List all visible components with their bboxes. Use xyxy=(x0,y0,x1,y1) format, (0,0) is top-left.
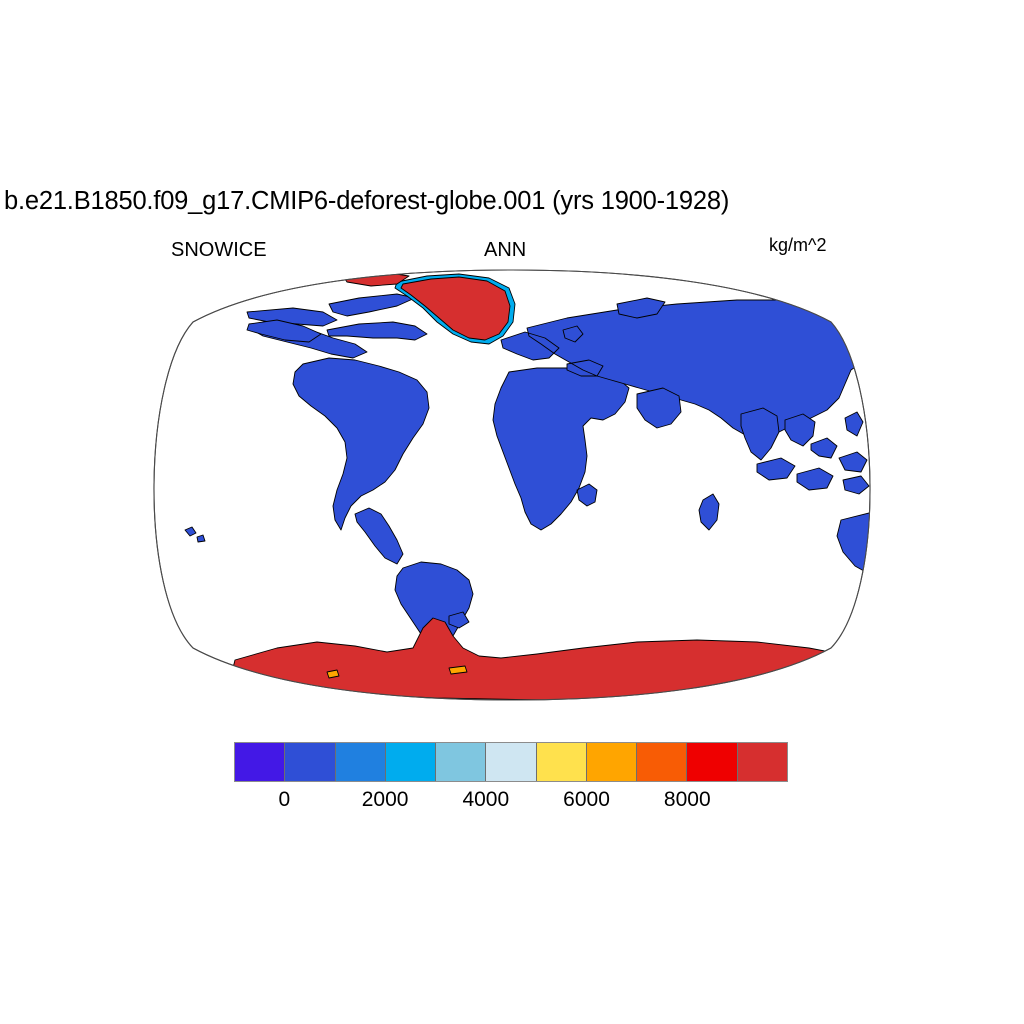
season-label: ANN xyxy=(484,239,526,262)
region-japan xyxy=(859,364,879,388)
colorbar-tick-0: 0 xyxy=(279,788,291,812)
map-plot-area xyxy=(97,268,927,702)
region-new-guinea xyxy=(887,462,927,488)
colorbar-cell-5 xyxy=(486,743,536,781)
colorbar-cell-4 xyxy=(436,743,486,781)
colorbar-cell-3 xyxy=(386,743,436,781)
world-map xyxy=(97,268,927,702)
variable-label: SNOWICE xyxy=(171,239,267,262)
colorbar-cell-0 xyxy=(235,743,285,781)
colorbar-cell-10 xyxy=(738,743,787,781)
page-title: b.e21.B1850.f09_g17.CMIP6-deforest-globe… xyxy=(4,187,729,216)
colorbar-cell-6 xyxy=(537,743,587,781)
colorbar-tick-labels: 02000400060008000 xyxy=(234,788,788,816)
colorbar-tick-6000: 6000 xyxy=(563,788,610,812)
units-label: kg/m^2 xyxy=(769,235,826,256)
colorbar-tick-4000: 4000 xyxy=(462,788,509,812)
region-tasmania xyxy=(915,580,927,594)
colorbar-cell-7 xyxy=(587,743,637,781)
colorbar-cell-2 xyxy=(336,743,386,781)
colorbar-cell-9 xyxy=(687,743,737,781)
colorbar-cell-1 xyxy=(285,743,335,781)
colorbar-cell-8 xyxy=(637,743,687,781)
colorbar-tick-2000: 2000 xyxy=(362,788,409,812)
colorbar[interactable] xyxy=(234,742,788,782)
colorbar-tick-8000: 8000 xyxy=(664,788,711,812)
region-kamchatka xyxy=(873,318,897,344)
